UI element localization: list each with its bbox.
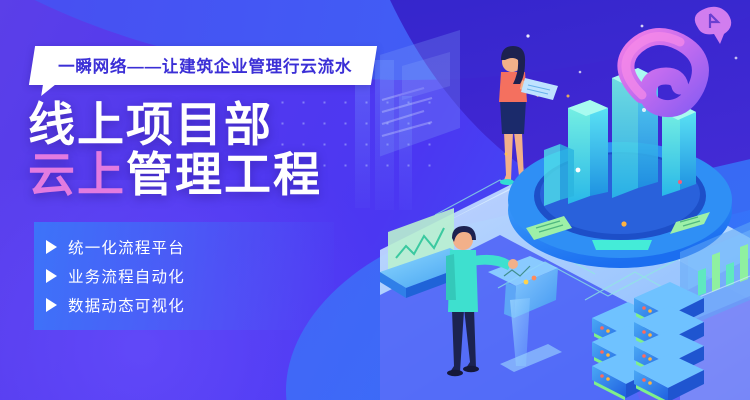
headline-line-2: 云上管理工程 [28, 150, 322, 200]
tagline-tail [41, 84, 56, 96]
document-panel [380, 30, 460, 160]
list-item-label: 业务流程自动化 [68, 265, 185, 287]
triangle-right-icon [46, 298, 57, 312]
tagline-banner: 一瞬网络——让建筑企业管理行云流水 [32, 46, 374, 85]
headline-accent: 云上 [28, 148, 126, 201]
list-item-label: 数据动态可视化 [68, 294, 185, 316]
hero-illustration [380, 0, 750, 400]
feature-list: 统一化流程平台 业务流程自动化 数据动态可视化 [46, 234, 185, 321]
page-title: 线上项目部 云上管理工程 [28, 100, 322, 200]
headline-line-1: 线上项目部 [28, 100, 322, 150]
headline-rest: 管理工程 [126, 148, 322, 201]
list-item: 数据动态可视化 [46, 292, 185, 317]
list-item: 业务流程自动化 [46, 263, 185, 288]
list-item: 统一化流程平台 [46, 234, 185, 259]
triangle-right-icon [46, 240, 57, 254]
list-item-label: 统一化流程平台 [68, 236, 185, 258]
promo-banner: 一瞬网络——让建筑企业管理行云流水 线上项目部 云上管理工程 统一化流程平台 业… [0, 0, 750, 400]
tagline-text: 一瞬网络——让建筑企业管理行云流水 [58, 53, 352, 77]
server-rack-right [634, 282, 704, 400]
chat-bubble-icon [695, 7, 731, 44]
triangle-right-icon [46, 269, 57, 283]
